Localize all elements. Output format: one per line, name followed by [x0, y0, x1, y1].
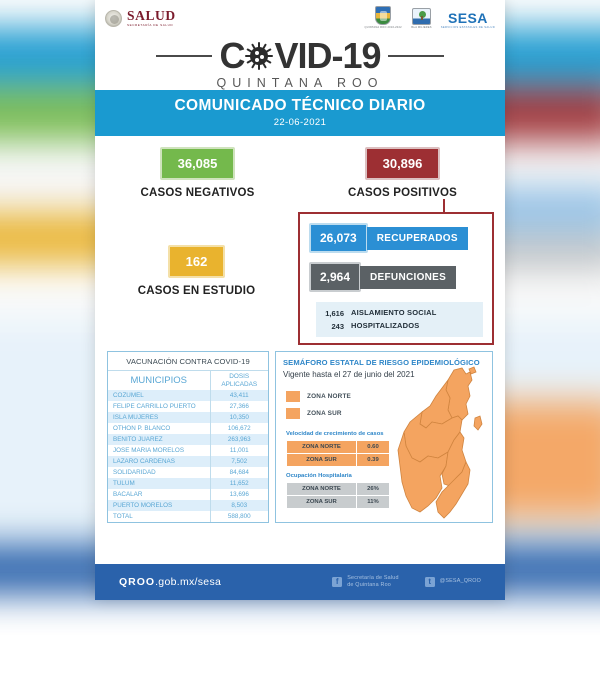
ocupacion-table: ZONA NORTE 26% ZONA SUR 11%: [286, 482, 390, 509]
mexico-eagle-seal-icon: [105, 10, 122, 27]
municipio-cell: PUERTO MORELOS: [108, 500, 210, 511]
dosis-cell: 10,350: [210, 412, 268, 423]
estudio-label: CASOS EN ESTUDIO: [95, 285, 298, 297]
twitter-handle: @SESA_QROO: [440, 578, 481, 585]
table-row: FELIPE CARRILLO PUERTO27,366: [108, 401, 268, 412]
dosis-cell: 27,366: [210, 401, 268, 412]
facebook-link[interactable]: f Secretaría de Salud de Quintana Roo: [332, 575, 398, 589]
quintana-roo-map: [392, 366, 488, 544]
table-row: PUERTO MORELOS8,503: [108, 500, 268, 511]
coronavirus-icon: [245, 42, 273, 70]
active-cases-box: 1,616 AISLAMIENTO SOCIAL 243 HOSPITALIZA…: [316, 302, 483, 337]
quintana-roo-seal-caption: QUINTANA ROO 2016-2022: [365, 27, 402, 30]
defunciones-row: 2,964 DEFUNCIONES: [309, 262, 492, 292]
col-header-municipios: MUNICIPIOS: [108, 371, 210, 391]
quintana-roo-seal-icon: [375, 6, 391, 25]
semaforo-panel: SEMÁFORO ESTATAL DE RIESGO EPIDEMIOLÓGIC…: [275, 351, 493, 523]
defunciones-label: DEFUNCIONES: [360, 266, 456, 289]
velocidad-zona: ZONA NORTE: [287, 441, 357, 454]
title-rest: VID-19: [274, 38, 380, 74]
logo-bar: SALUD SECRETARÍA DE SALUD QUINTANA ROO 2…: [95, 0, 505, 36]
daily-report-banner: COMUNICADO TÉCNICO DIARIO 22-06-2021: [95, 90, 505, 136]
dosis-cell: 8,503: [210, 500, 268, 511]
municipio-cell: TOTAL: [108, 511, 210, 522]
middle-section: 162 CASOS EN ESTUDIO 26,073 RECUPERADOS …: [95, 199, 505, 347]
aislamiento-label: AISLAMIENTO SOCIAL: [351, 308, 437, 317]
municipio-cell: JOSE MARIA MORELOS: [108, 445, 210, 456]
vaccination-panel: VACUNACIÓN CONTRA COVID-19 MUNICIPIOS DO…: [107, 351, 269, 523]
page-title: C VID-19: [219, 38, 380, 74]
table-row: TULUM11,652: [108, 478, 268, 489]
table-row: ZONA SUR 0.39: [287, 454, 390, 467]
banner-date: 22-06-2021: [95, 117, 505, 128]
dosis-cell: 84,684: [210, 467, 268, 478]
facebook-icon: f: [332, 577, 342, 587]
twitter-link[interactable]: t @SESA_QROO: [425, 575, 481, 589]
infographic-poster: SALUD SECRETARÍA DE SALUD QUINTANA ROO 2…: [95, 0, 505, 600]
municipio-cell: FELIPE CARRILLO PUERTO: [108, 401, 210, 412]
poster-title-block: C VID-19 QUINTANA ROO: [95, 36, 505, 90]
table-row: BENITO JUAREZ263,963: [108, 434, 268, 445]
tree-emblem-icon: [412, 8, 431, 25]
salud-logo-title: SALUD: [127, 9, 176, 23]
recuperados-value: 26,073: [309, 223, 368, 253]
negativos-value: 36,085: [160, 147, 236, 180]
ocupacion-zona: ZONA SUR: [287, 496, 357, 509]
legend-swatch-icon: [286, 391, 300, 402]
banner-title: COMUNICADO TÉCNICO DIARIO: [95, 97, 505, 115]
ocupacion-valor: 11%: [357, 496, 390, 509]
table-row: JOSE MARIA MORELOS11,001: [108, 445, 268, 456]
legend-swatch-icon: [286, 408, 300, 419]
recuperados-label: RECUPERADOS: [367, 227, 468, 250]
title-rule-left: [156, 55, 212, 57]
defunciones-value: 2,964: [309, 262, 361, 292]
dosis-cell: 106,672: [210, 423, 268, 434]
sesa-logo: SESA SERVICIOS ESTATALES DE SALUD: [441, 11, 495, 30]
municipio-cell: SOLIDARIDAD: [108, 467, 210, 478]
legend-label: ZONA NORTE: [307, 393, 351, 400]
salud-logo-subtitle: SECRETARÍA DE SALUD: [127, 24, 176, 27]
website-url-path: .gob.mx/sesa: [155, 576, 221, 588]
table-row: LAZARO CARDENAS7,502: [108, 456, 268, 467]
table-row: ISLA MUJERES10,350: [108, 412, 268, 423]
municipio-cell: COZUMEL: [108, 390, 210, 401]
velocidad-valor: 0.39: [357, 454, 390, 467]
negativos-label: CASOS NEGATIVOS: [95, 187, 300, 199]
estudio-value: 162: [168, 245, 226, 278]
stat-positivos: 30,896 CASOS POSITIVOS: [300, 147, 505, 199]
twitter-icon: t: [425, 577, 435, 587]
top-stats-row: 36,085 CASOS NEGATIVOS 30,896 CASOS POSI…: [95, 136, 505, 199]
social-links: f Secretaría de Salud de Quintana Roo t …: [332, 575, 481, 589]
table-row: SOLIDARIDAD84,684: [108, 467, 268, 478]
legend-label: ZONA SUR: [307, 410, 342, 417]
title-rule-right: [388, 55, 444, 57]
aislamiento-row: 1,616 AISLAMIENTO SOCIAL: [324, 308, 475, 318]
dosis-cell: 7,502: [210, 456, 268, 467]
vaccination-heading: VACUNACIÓN CONTRA COVID-19: [108, 352, 268, 370]
bottom-panels: VACUNACIÓN CONTRA COVID-19 MUNICIPIOS DO…: [95, 347, 505, 523]
positivos-label: CASOS POSITIVOS: [300, 187, 505, 199]
velocidad-table: ZONA NORTE 0.60 ZONA SUR 0.39: [286, 440, 390, 467]
partner-logos: QUINTANA ROO 2016-2022 ISLA MUJERES SESA…: [365, 6, 495, 29]
municipio-cell: ISLA MUJERES: [108, 412, 210, 423]
hospitalizados-value: 243: [324, 321, 344, 331]
website-url-brand: QROO: [119, 576, 155, 588]
dosis-cell: 11,652: [210, 478, 268, 489]
vaccination-table-header: MUNICIPIOS DOSIS APLICADAS: [108, 371, 268, 391]
positivos-breakdown-box: 26,073 RECUPERADOS 2,964 DEFUNCIONES 1,6…: [298, 212, 494, 345]
stat-negativos: 36,085 CASOS NEGATIVOS: [95, 147, 300, 199]
facebook-label-line1: Secretaría de Salud: [347, 575, 398, 581]
quintana-roo-seal-logo: QUINTANA ROO 2016-2022: [365, 6, 402, 29]
sesa-logo-subtitle: SERVICIOS ESTATALES DE SALUD: [441, 27, 495, 30]
ocupacion-valor: 26%: [357, 483, 390, 496]
semaforo-heading: SEMÁFORO ESTATAL DE RIESGO EPIDEMIOLÓGIC…: [276, 352, 492, 367]
hospitalizados-label: HOSPITALIZADOS: [351, 321, 420, 330]
salud-logo: SALUD SECRETARÍA DE SALUD: [105, 9, 176, 27]
hospitalizados-row: 243 HOSPITALIZADOS: [324, 321, 475, 331]
ocupacion-zona: ZONA NORTE: [287, 483, 357, 496]
dosis-cell: 263,963: [210, 434, 268, 445]
municipio-cell: BENITO JUAREZ: [108, 434, 210, 445]
positivos-value: 30,896: [365, 147, 441, 180]
velocidad-zona: ZONA SUR: [287, 454, 357, 467]
dosis-cell: 13,696: [210, 489, 268, 500]
col-header-dosis: DOSIS APLICADAS: [210, 371, 268, 391]
facebook-label: Secretaría de Salud de Quintana Roo: [347, 575, 398, 589]
tree-emblem-caption: ISLA MUJERES: [411, 27, 432, 30]
aislamiento-value: 1,616: [324, 308, 344, 318]
table-row: ZONA NORTE 26%: [287, 483, 390, 496]
dosis-cell: 11,001: [210, 445, 268, 456]
dosis-cell: 588,800: [210, 511, 268, 522]
tree-emblem-logo: ISLA MUJERES: [411, 8, 432, 29]
municipio-cell: TULUM: [108, 478, 210, 489]
sesa-logo-title: SESA: [441, 11, 495, 25]
table-row: OTHON P. BLANCO106,672: [108, 423, 268, 434]
website-url[interactable]: QROO.gob.mx/sesa: [119, 576, 221, 588]
positivos-connector-line: [443, 199, 445, 213]
vaccination-table: MUNICIPIOS DOSIS APLICADAS COZUMEL43,411…: [108, 370, 268, 522]
velocidad-valor: 0.60: [357, 441, 390, 454]
table-row: ZONA SUR 11%: [287, 496, 390, 509]
page-subtitle: QUINTANA ROO: [95, 76, 505, 90]
table-row: ZONA NORTE 0.60: [287, 441, 390, 454]
table-row: COZUMEL43,411: [108, 390, 268, 401]
table-row: BACALAR13,696: [108, 489, 268, 500]
facebook-label-line2: de Quintana Roo: [347, 582, 391, 588]
title-letter-c: C: [219, 38, 244, 74]
municipio-cell: LAZARO CARDENAS: [108, 456, 210, 467]
municipio-cell: OTHON P. BLANCO: [108, 423, 210, 434]
recuperados-row: 26,073 RECUPERADOS: [309, 223, 492, 253]
table-row: TOTAL588,800: [108, 511, 268, 522]
poster-footer: QROO.gob.mx/sesa f Secretaría de Salud d…: [95, 564, 505, 600]
stat-estudio: 162 CASOS EN ESTUDIO: [95, 245, 298, 297]
municipio-cell: BACALAR: [108, 489, 210, 500]
dosis-cell: 43,411: [210, 390, 268, 401]
